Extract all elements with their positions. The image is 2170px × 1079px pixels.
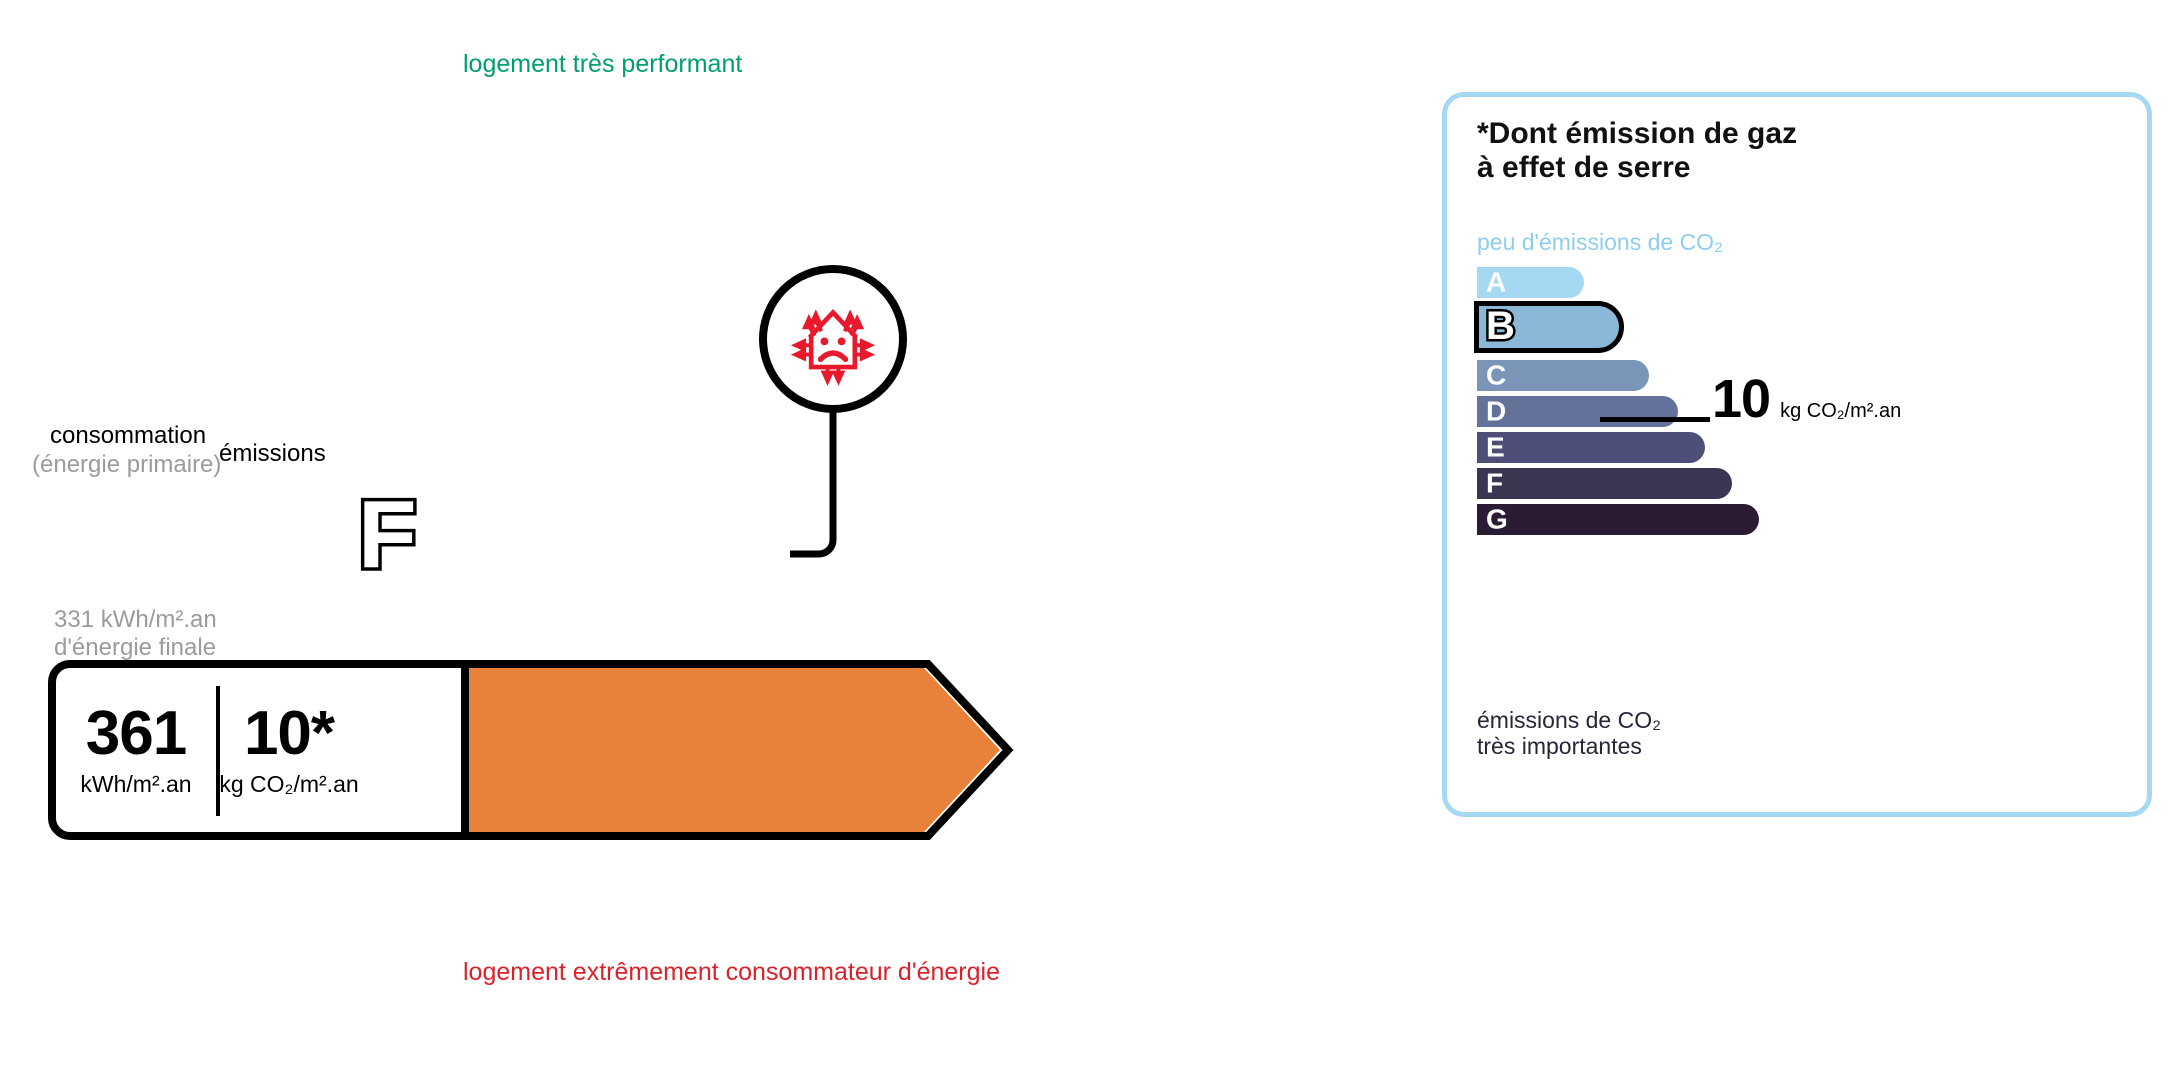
energy-bar-b-letter: B (491, 200, 536, 262)
co2-value-group: 10 kg CO₂/m².an (1712, 372, 1901, 426)
co2-title-line2: à effet de serre (1477, 151, 1797, 185)
co2-bar-g-letter: G (1486, 505, 1508, 533)
co2-emissions-panel: *Dont émission de gaz à effet de serre p… (1442, 92, 2152, 817)
energy-bar-g-letter: G (491, 873, 539, 935)
consumption-sublabel: (énergie primaire) (32, 451, 221, 479)
consumption-label: consommation (50, 422, 206, 450)
energy-bar-c-letter: C (491, 303, 536, 365)
co2-bar-c: C (1477, 360, 1649, 391)
emissions-value: 10* (244, 703, 334, 765)
co2-rating-highlight-b: B (1474, 301, 1624, 353)
co2-bar-b-letter: B (1486, 306, 1515, 346)
co2-bar-d: D (1477, 396, 1678, 427)
co2-value-unit: kg CO₂/m².an (1780, 400, 1901, 423)
co2-bottom-caption: émissions de CO₂ très importantes (1477, 707, 1661, 759)
consumption-value: 361 (86, 703, 186, 765)
emissions-label: émissions (219, 440, 326, 468)
energy-rating-highlight-f: 361 kWh/m².an 10* kg CO₂/m².an (48, 660, 1056, 840)
emissions-value-unit: kg CO₂/m².an (219, 771, 358, 798)
energy-bar-a-letter: A (491, 97, 536, 159)
consumption-value-cell: 361 kWh/m².an (62, 674, 210, 826)
co2-title-line1: *Dont émission de gaz (1477, 117, 1797, 151)
co2-bar-a-letter: A (1486, 268, 1506, 296)
co2-bar-f: F (1477, 468, 1732, 499)
final-energy-line2: d'énergie finale (54, 634, 217, 662)
co2-bar-e: E (1477, 432, 1705, 463)
co2-bottom-caption-line2: très importantes (1477, 733, 1661, 759)
co2-top-caption: peu d'émissions de CO₂ (1477, 229, 1723, 256)
emissions-value-cell: 10* kg CO₂/m².an (224, 674, 354, 826)
consumption-value-unit: kWh/m².an (80, 771, 191, 798)
co2-bottom-caption-line1: émissions de CO₂ (1477, 707, 1661, 733)
co2-value: 10 (1712, 372, 1770, 426)
energy-bar-d-letter: D (491, 406, 536, 468)
co2-bar-g: G (1477, 504, 1759, 535)
co2-bar-e-letter: E (1486, 433, 1505, 461)
co2-bar-d-letter: D (1486, 397, 1506, 425)
energy-bar-e-letter: E (491, 509, 532, 571)
energy-performance-chart: logement très performant A B C (0, 0, 1270, 1079)
co2-bar-f-letter: F (1486, 469, 1503, 497)
co2-panel-title: *Dont émission de gaz à effet de serre (1477, 117, 1797, 185)
co2-leader-line (1600, 417, 1710, 422)
energy-top-caption: logement très performant (463, 50, 742, 79)
final-energy-line1: 331 kWh/m².an (54, 606, 217, 634)
energy-rating-letter: F (358, 487, 417, 583)
final-energy-note: 331 kWh/m².an d'énergie finale (54, 606, 217, 662)
sad-house-callout (751, 265, 1081, 565)
co2-bar-a: A (1477, 267, 1584, 298)
co2-bar-c-letter: C (1486, 361, 1506, 389)
energy-bottom-caption: logement extrêmement consommateur d'éner… (463, 958, 1000, 987)
